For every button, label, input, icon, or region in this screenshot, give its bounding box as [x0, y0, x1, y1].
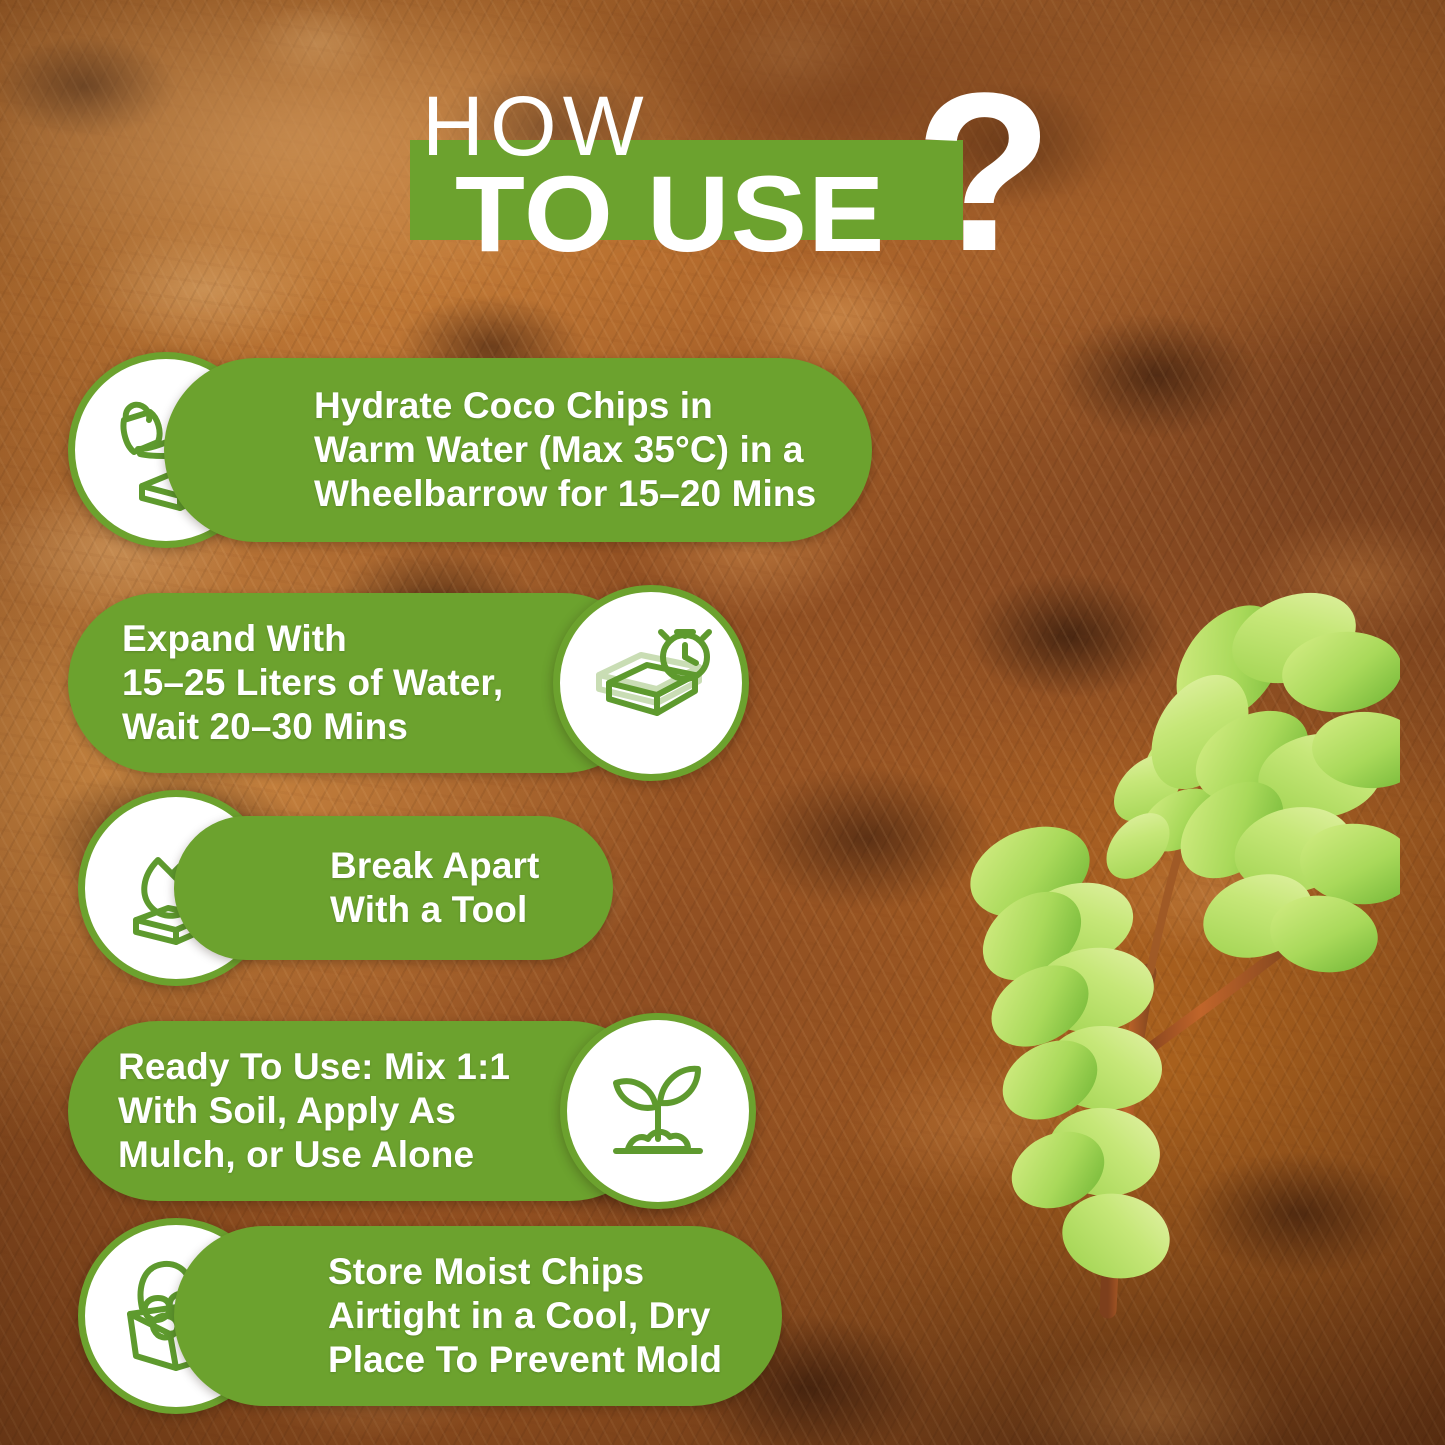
step-ready-to-use: Ready To Use: Mix 1:1 With Soil, Apply A… [68, 1013, 756, 1209]
step-break-apart: Break Apart With a Tool [78, 790, 613, 986]
header: HOW TO USE ? [0, 0, 1445, 320]
step-expand: Expand With 15–25 Liters of Water, Wait … [68, 585, 749, 781]
expanding-block-stopwatch-icon [553, 585, 749, 781]
step-store-pill: Store Moist Chips Airtight in a Cool, Dr… [174, 1226, 782, 1406]
step-hydrate-pill: Hydrate Coco Chips in Warm Water (Max 35… [164, 358, 872, 542]
step-store: Store Moist Chips Airtight in a Cool, Dr… [78, 1218, 782, 1414]
step-hydrate: Hydrate Coco Chips in Warm Water (Max 35… [68, 352, 872, 548]
seedling-plant-photo [880, 520, 1400, 1320]
header-question-mark: ? [915, 72, 1053, 272]
step-ready-to-use-text: Ready To Use: Mix 1:1 With Soil, Apply A… [118, 1045, 510, 1177]
step-break-apart-pill: Break Apart With a Tool [174, 816, 613, 960]
infographic-poster: HOW TO USE ? [0, 0, 1445, 1445]
step-break-apart-text: Break Apart With a Tool [330, 844, 539, 932]
step-hydrate-text: Hydrate Coco Chips in Warm Water (Max 35… [314, 384, 816, 516]
seedling-sprout-icon [560, 1013, 756, 1209]
step-expand-text: Expand With 15–25 Liters of Water, Wait … [122, 617, 503, 749]
header-title-touse: TO USE [455, 160, 885, 268]
step-store-text: Store Moist Chips Airtight in a Cool, Dr… [328, 1250, 722, 1382]
